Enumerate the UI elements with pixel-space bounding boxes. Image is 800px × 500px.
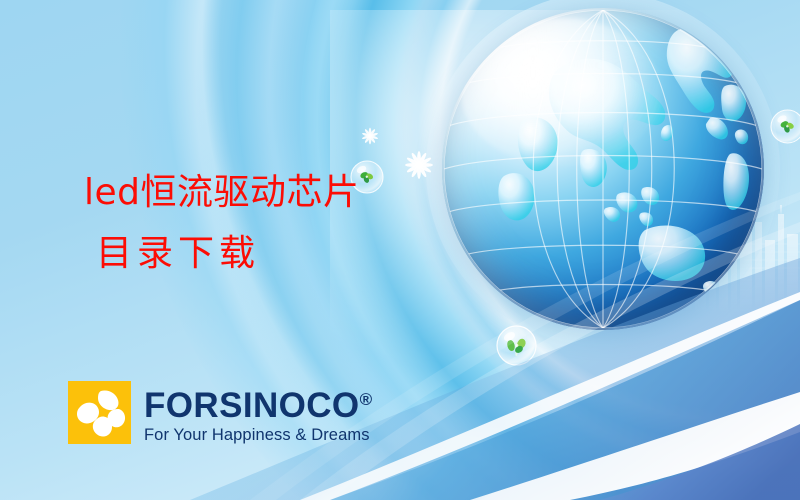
promo-banner: led恒流驱动芯片 目录下载 FORSINOCO® For Your Happi… [0, 0, 800, 500]
brand-name-text: FORSINOCO [144, 386, 360, 425]
logo-text-block: FORSINOCO® For Your Happiness & Dreams [144, 382, 372, 445]
logo-mark-tile [68, 381, 131, 444]
brand-name: FORSINOCO® [144, 382, 372, 424]
pinwheel-flower-icon [68, 381, 131, 444]
headline-line-2: 目录下载 [96, 226, 260, 282]
registered-mark: ® [360, 390, 373, 409]
brand-logo[interactable]: FORSINOCO® For Your Happiness & Dreams [68, 381, 372, 445]
headline-line-1: led恒流驱动芯片 [84, 162, 360, 224]
brand-tagline: For Your Happiness & Dreams [144, 425, 372, 445]
